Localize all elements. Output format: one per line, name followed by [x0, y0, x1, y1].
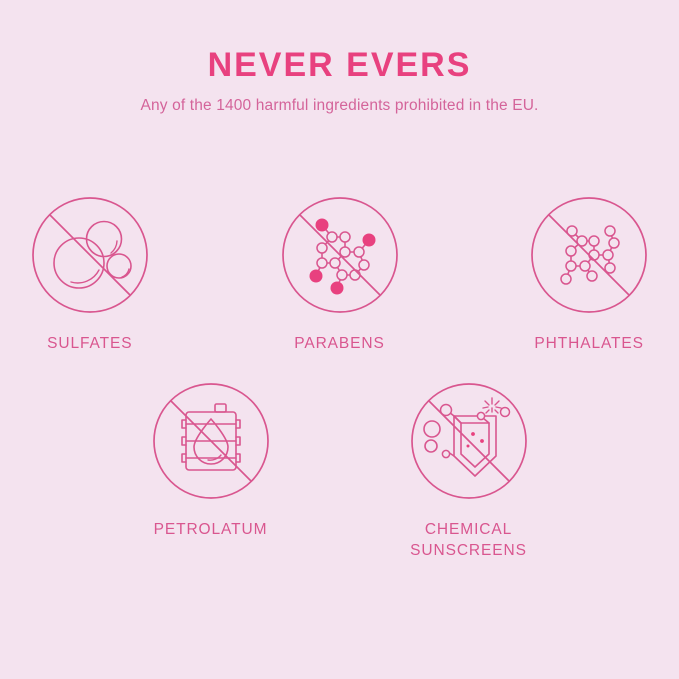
page-subtitle: Any of the 1400 harmful ingredients proh… — [0, 95, 679, 116]
grid-item-label-line1: CHEMICAL — [410, 519, 527, 540]
page-title: NEVER EVERS — [0, 44, 679, 86]
never-evers-infographic: NEVER EVERS Any of the 1400 harmful ingr… — [0, 0, 679, 679]
grid-row-2: PETROLATUM — [0, 382, 679, 561]
never-evers-grid: SULFATES — [0, 196, 679, 561]
no-chemical-sunscreens-icon — [410, 382, 528, 500]
grid-item-label: SULFATES — [47, 333, 132, 354]
grid-row-1: SULFATES — [0, 196, 679, 354]
header: NEVER EVERS Any of the 1400 harmful ingr… — [0, 44, 679, 116]
no-sulfates-bubbles-icon — [31, 196, 149, 314]
no-petrolatum-barrel-icon — [152, 382, 270, 500]
no-parabens-molecule-icon — [281, 196, 399, 314]
no-phthalates-molecule-icon — [530, 196, 648, 314]
grid-item-label: PHTHALATES — [534, 333, 644, 354]
grid-item-sulfates: SULFATES — [0, 196, 180, 354]
grid-item-parabens: PARABENS — [250, 196, 430, 354]
grid-item-label: CHEMICAL SUNSCREENS — [410, 519, 527, 561]
grid-item-label-line2: SUNSCREENS — [410, 540, 527, 561]
grid-item-label: PETROLATUM — [154, 519, 268, 540]
grid-item-label: PARABENS — [294, 333, 384, 354]
grid-item-chemical-sunscreens: CHEMICAL SUNSCREENS — [376, 382, 562, 561]
grid-item-phthalates: PHTHALATES — [499, 196, 679, 354]
grid-item-petrolatum: PETROLATUM — [118, 382, 304, 540]
